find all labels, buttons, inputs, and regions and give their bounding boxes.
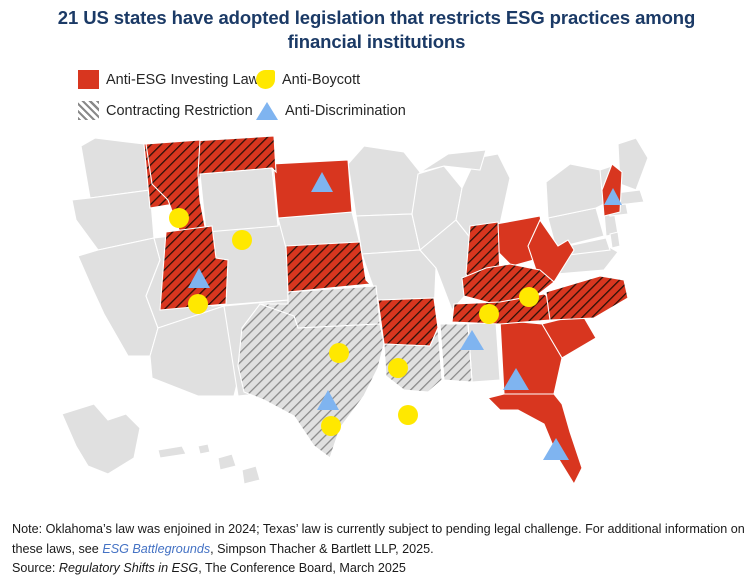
note-line: Note: Oklahoma’s law was enjoined in 202…	[12, 520, 747, 559]
marker-anti-boycott-LA[interactable]	[398, 405, 418, 425]
source-prefix: Source:	[12, 561, 59, 575]
esg-battlegrounds-link[interactable]: ESG Battlegrounds	[102, 542, 210, 556]
state-IA[interactable]	[356, 214, 420, 254]
legend-item-contracting-restriction: Contracting Restriction	[78, 101, 256, 120]
us-choropleth-map	[48, 128, 720, 513]
state-WA[interactable]	[81, 138, 150, 198]
legend-label: Anti-Discrimination	[285, 103, 406, 119]
legend-item-anti-boycott: Anti-Boycott	[256, 70, 360, 89]
state-WY[interactable]	[200, 168, 278, 232]
source-line: Source: Regulatory Shifts in ESG, The Co…	[12, 559, 747, 579]
state-HI-2[interactable]	[218, 454, 236, 470]
legend-row: Contracting Restriction Anti-Discriminat…	[78, 95, 498, 126]
state-ND[interactable]	[272, 160, 352, 218]
state-DE[interactable]	[610, 232, 620, 248]
legend-row: Anti-ESG Investing Law Anti-Boycott	[78, 64, 498, 95]
red-square-swatch-icon	[78, 70, 99, 89]
state-NC[interactable]	[546, 276, 628, 320]
marker-anti-boycott-ID[interactable]	[169, 208, 189, 228]
marker-anti-boycott-WY[interactable]	[232, 230, 252, 250]
state-KS[interactable]	[286, 242, 370, 292]
state-AK[interactable]	[62, 404, 140, 474]
state-shapes	[62, 136, 648, 484]
source-suffix: , The Conference Board, March 2025	[198, 561, 406, 575]
marker-anti-boycott-AR[interactable]	[388, 358, 408, 378]
state-HI-1[interactable]	[198, 444, 210, 454]
marker-anti-boycott-UT[interactable]	[188, 294, 208, 314]
note-text-after-link: , Simpson Thacher & Bartlett LLP, 2025.	[210, 542, 434, 556]
state-TX[interactable]	[238, 304, 384, 458]
marker-anti-boycott-OK[interactable]	[329, 343, 349, 363]
hatch-swatch-icon	[78, 101, 99, 120]
footnotes: Note: Oklahoma’s law was enjoined in 202…	[12, 520, 747, 579]
states-hatch-only	[238, 286, 472, 458]
map-svg	[48, 128, 720, 513]
state-MI-UP[interactable]	[420, 150, 486, 172]
state-AR[interactable]	[378, 298, 438, 346]
marker-anti-boycott-KY[interactable]	[479, 304, 499, 324]
state-AK-aleutians[interactable]	[158, 446, 186, 458]
marker-anti-boycott-WV[interactable]	[519, 287, 539, 307]
map-legend: Anti-ESG Investing Law Anti-Boycott Cont…	[78, 64, 498, 126]
state-NY[interactable]	[546, 164, 608, 218]
legend-label: Contracting Restriction	[106, 103, 253, 119]
state-AL[interactable]	[468, 322, 500, 382]
state-HI-3[interactable]	[242, 466, 260, 484]
marker-anti-boycott-TX[interactable]	[321, 416, 341, 436]
source-title: Regulatory Shifts in ESG	[59, 561, 198, 575]
blue-triangle-swatch-icon	[256, 102, 278, 120]
legend-label: Anti-Boycott	[282, 72, 360, 88]
legend-item-anti-discrimination: Anti-Discrimination	[256, 102, 406, 120]
legend-item-anti-esg-investing-law: Anti-ESG Investing Law	[78, 70, 256, 89]
legend-label: Anti-ESG Investing Law	[106, 72, 259, 88]
state-ME[interactable]	[618, 138, 648, 190]
state-MN[interactable]	[348, 146, 420, 216]
page-title: 21 US states have adopted legislation th…	[20, 6, 733, 54]
state-FL[interactable]	[488, 394, 582, 484]
state-MS-hatch[interactable]	[440, 324, 472, 382]
yellow-circle-swatch-icon	[256, 70, 275, 89]
